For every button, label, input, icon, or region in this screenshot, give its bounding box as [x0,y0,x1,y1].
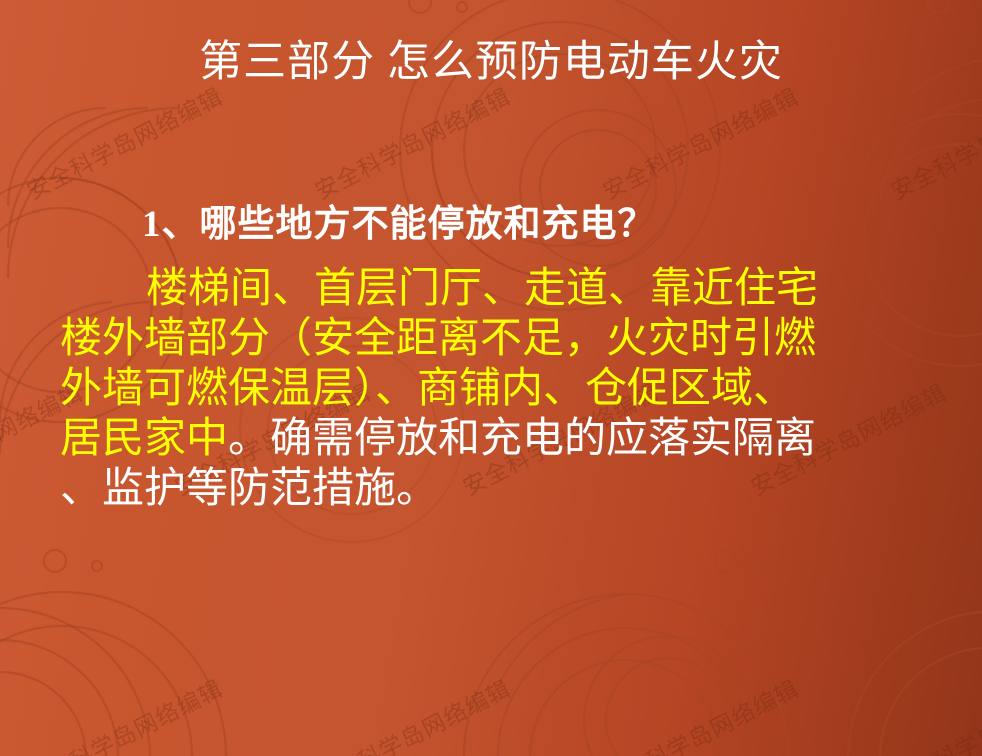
body-text-segment: 、监护等防范措施。 [60,466,438,512]
body-text-segment: 居民家中 [60,416,228,462]
page-title: 第三部分 怎么预防电动车火灾 [0,38,982,87]
body-line: 楼外墙部分（安全距离不足，火灾时引燃 [60,314,960,364]
body-line: 外墙可燃保温层）、商铺内、仓促区域、 [60,364,960,414]
body-text-block: 楼梯间、首层门厅、走道、靠近住宅楼外墙部分（安全距离不足，火灾时引燃外墙可燃保温… [60,264,960,514]
presentation-slide: 安全科学岛网络编辑安全科学岛网络编辑安全科学岛网络编辑安全科学岛网络编辑安全科学… [0,0,982,756]
body-text-segment: 。确需停放和充电的应落实隔离 [228,416,816,462]
body-text-segment: 楼外墙部分（安全距离不足，火灾时引燃 [60,316,816,362]
body-text-segment: 楼梯间、首层门厅、走道、靠近住宅 [146,266,818,312]
body-line: 、监护等防范措施。 [60,464,960,514]
body-text-segment: 外墙可燃保温层）、商铺内、仓促区域、 [60,366,795,412]
body-line: 居民家中。确需停放和充电的应落实隔离 [60,414,960,464]
slide-content: 第三部分 怎么预防电动车火灾 1、哪些地方不能停放和充电？ 楼梯间、首层门厅、走… [0,0,982,756]
question-heading: 1、哪些地方不能停放和充电？ [142,203,656,247]
body-line: 楼梯间、首层门厅、走道、靠近住宅 [60,264,960,314]
